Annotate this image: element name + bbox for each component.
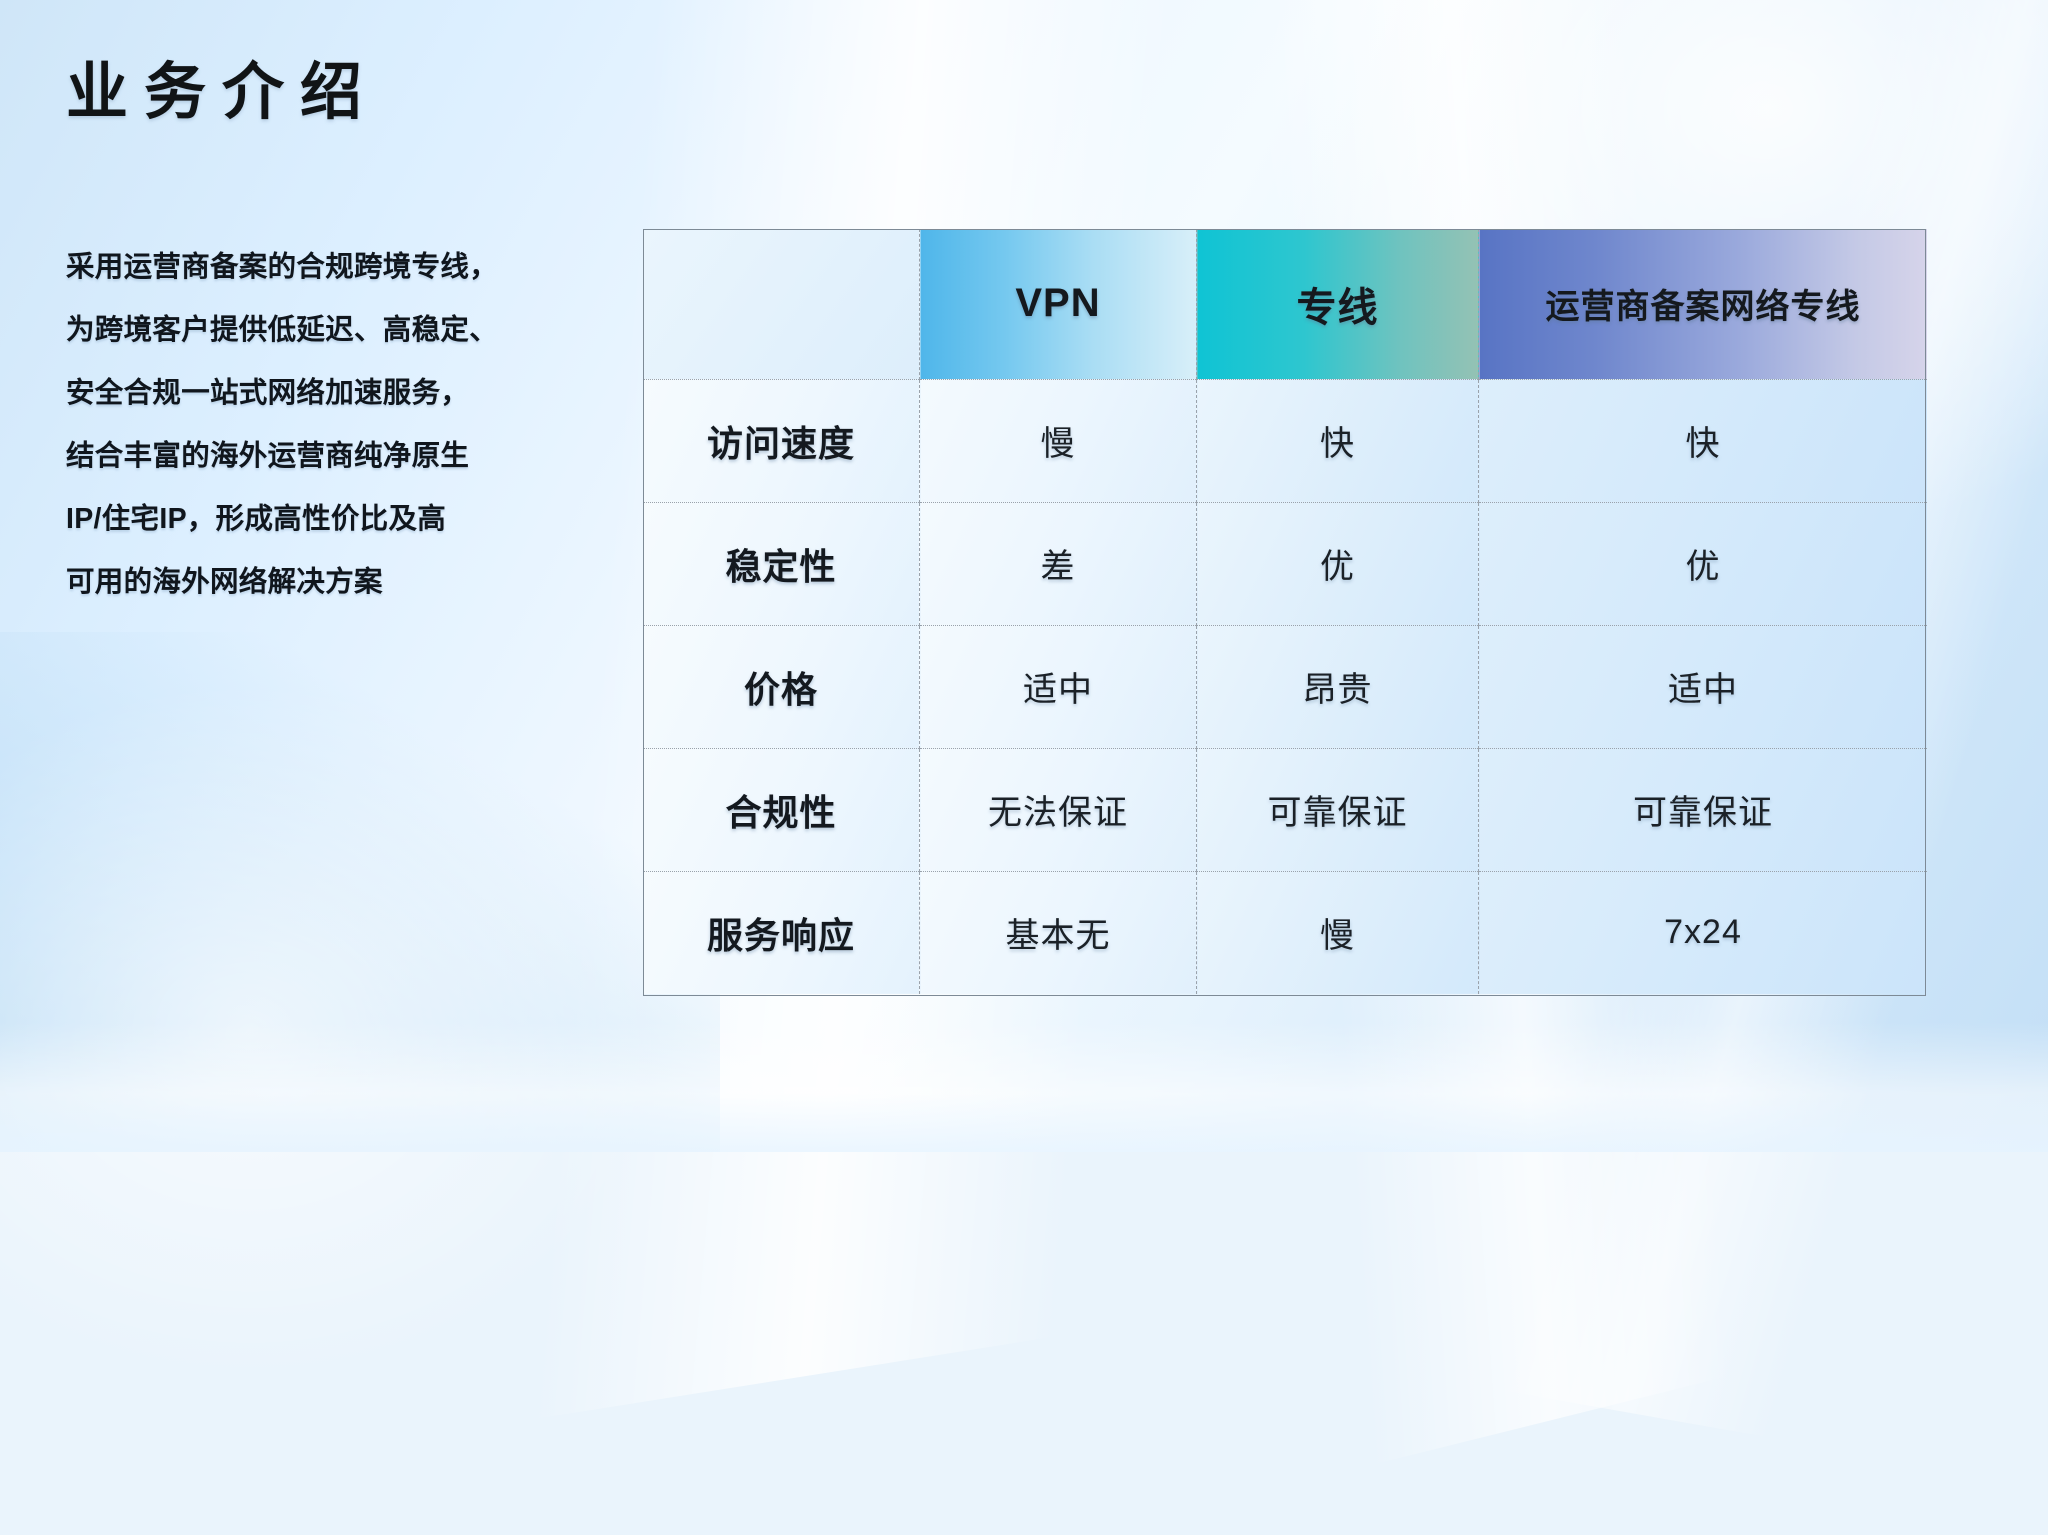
table-cell-vpn: 适中: [920, 625, 1197, 748]
table-cell-dedicated-line: 昂贵: [1197, 625, 1479, 748]
table-row-label-cell: 服务响应: [643, 871, 920, 994]
table-row: 访问速度 慢 快 快: [643, 379, 1927, 502]
table-row-label: 价格: [744, 669, 818, 710]
intro-line: 可用的海外网络解决方案: [66, 551, 626, 614]
table-header: VPN 专线 运营商备案网络专线: [643, 229, 1927, 379]
table-header-row: VPN 专线 运营商备案网络专线: [643, 229, 1927, 379]
table-header-cell-vpn: VPN: [920, 229, 1197, 379]
table-cell-dedicated-line: 快: [1197, 379, 1479, 502]
table-row-label: 合规性: [725, 792, 836, 833]
table-cell-operator-line: 可靠保证: [1479, 748, 1928, 871]
table-row: 价格 适中 昂贵 适中: [643, 625, 1927, 748]
intro-line: 安全合规一站式网络加速服务，: [66, 362, 626, 425]
table-row-label-cell: 稳定性: [643, 502, 920, 625]
table-cell-value: 适中: [1668, 671, 1738, 709]
table-cell-vpn: 基本无: [920, 871, 1197, 994]
table-cell-operator-line: 优: [1479, 502, 1928, 625]
table-row-label-cell: 合规性: [643, 748, 920, 871]
table-row-label: 稳定性: [725, 546, 836, 587]
intro-line: 结合丰富的海外运营商纯净原生: [66, 425, 626, 488]
table-cell-operator-line: 7x24: [1479, 871, 1928, 994]
table-row: 合规性 无法保证 可靠保证 可靠保证: [643, 748, 1927, 871]
intro-paragraph: 采用运营商备案的合规跨境专线， 为跨境客户提供低延迟、高稳定、 安全合规一站式网…: [66, 236, 626, 614]
table-cell-vpn: 差: [920, 502, 1197, 625]
table-header-label: VPN: [1015, 281, 1100, 325]
table-header-cell-blank: [643, 229, 920, 379]
table-cell-value: 基本无: [1006, 917, 1111, 955]
table-cell-dedicated-line: 慢: [1197, 871, 1479, 994]
table-row-label: 访问速度: [707, 423, 855, 464]
table-cell-vpn: 无法保证: [920, 748, 1197, 871]
table-row: 服务响应 基本无 慢 7x24: [643, 871, 1927, 994]
table-cell-value: 慢: [1320, 917, 1355, 955]
table-cell-value: 7x24: [1664, 913, 1742, 951]
intro-line: 采用运营商备案的合规跨境专线，: [66, 236, 626, 299]
table-cell-operator-line: 适中: [1479, 625, 1928, 748]
page-title: 业务介绍: [66, 62, 378, 124]
table-cell-dedicated-line: 优: [1197, 502, 1479, 625]
table-cell-value: 优: [1320, 548, 1355, 586]
table-row: 稳定性 差 优 优: [643, 502, 1927, 625]
table-cell-operator-line: 快: [1479, 379, 1928, 502]
table-header-cell-dedicated-line: 专线: [1197, 229, 1479, 379]
slide-content: 业务介绍 采用运营商备案的合规跨境专线， 为跨境客户提供低延迟、高稳定、 安全合…: [0, 0, 2048, 1152]
table-cell-value: 可靠保证: [1633, 794, 1773, 832]
table-cell-value: 适中: [1023, 671, 1093, 709]
intro-line: 为跨境客户提供低延迟、高稳定、: [66, 299, 626, 362]
table-row-label-cell: 访问速度: [643, 379, 920, 502]
table-cell-value: 无法保证: [988, 794, 1128, 832]
table-cell-value: 可靠保证: [1268, 794, 1408, 832]
table-cell-value: 快: [1320, 425, 1355, 463]
table-header-label: 专线: [1297, 286, 1379, 330]
table-row-label-cell: 价格: [643, 625, 920, 748]
table-cell-value: 慢: [1041, 425, 1076, 463]
table-header-cell-operator-line: 运营商备案网络专线: [1479, 229, 1928, 379]
table-header-label: 运营商备案网络专线: [1546, 288, 1861, 326]
table-cell-value: 差: [1041, 548, 1076, 586]
table-cell-dedicated-line: 可靠保证: [1197, 748, 1479, 871]
table-cell-value: 优: [1686, 548, 1721, 586]
table-body: 访问速度 慢 快 快 稳定性 差 优 优 价格 适中 昂贵 适中 合规性 无法保…: [643, 379, 1927, 994]
table-cell-value: 快: [1686, 425, 1721, 463]
comparison-table: VPN 专线 运营商备案网络专线 访问速度 慢 快 快 稳定性 差 优: [643, 229, 1927, 994]
table-cell-vpn: 慢: [920, 379, 1197, 502]
table-row-label: 服务响应: [707, 915, 855, 956]
table-cell-value: 昂贵: [1303, 671, 1373, 709]
intro-line: IP/住宅IP，形成高性价比及高: [66, 488, 626, 551]
